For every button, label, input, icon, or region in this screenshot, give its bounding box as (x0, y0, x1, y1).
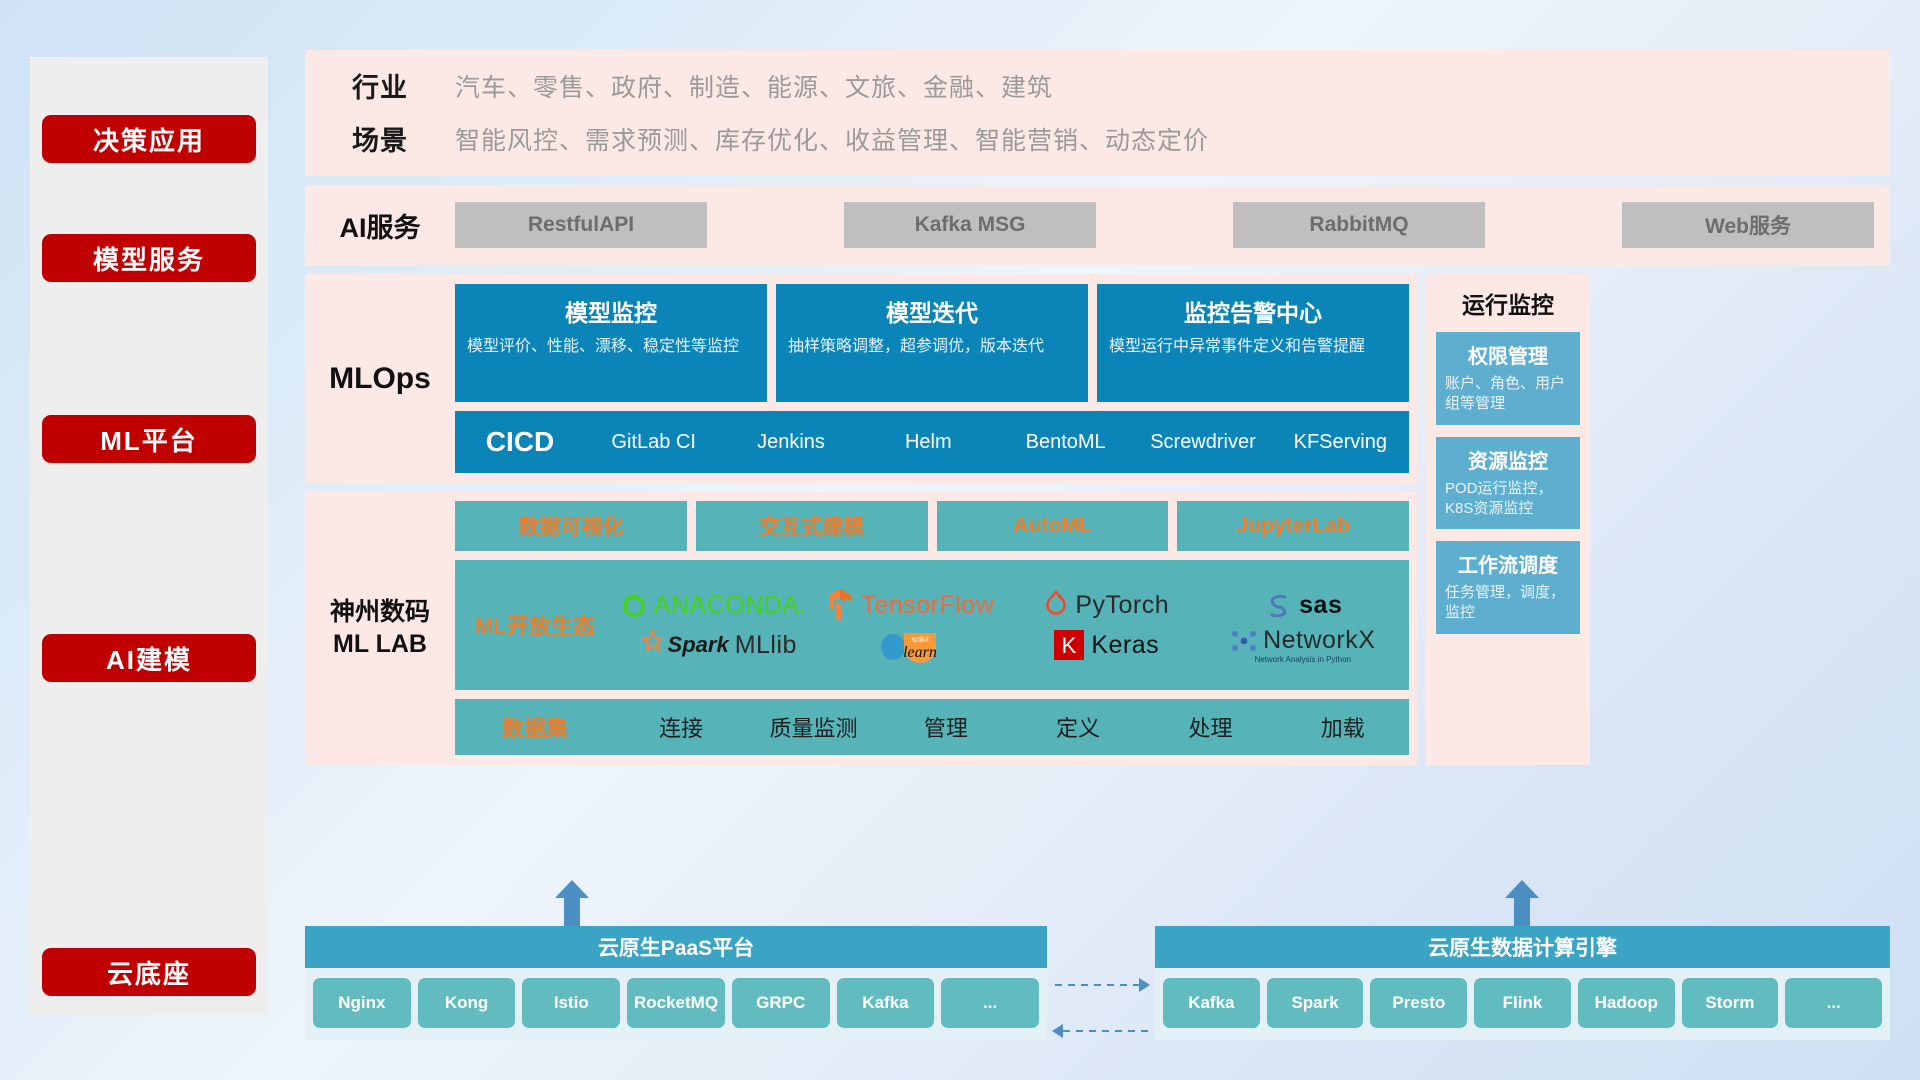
ml-lab-label-line1: 神州数码 (330, 596, 430, 629)
spark-label: Spark (668, 632, 729, 658)
paas-chip[interactable]: Kong (418, 978, 516, 1028)
dashed-arrow-left (1063, 1030, 1149, 1032)
mlops-card-list: 模型监控 模型评价、性能、漂移、稳定性等监控 模型迭代 抽样策略调整，超参调优，… (455, 284, 1409, 402)
paas-chip[interactable]: Nginx (313, 978, 411, 1028)
ml-lab-content: 数据可视化 交互式建模 AutoML JupyterLab ML开放生态 (455, 501, 1417, 755)
mlops-card-title: 模型迭代 (788, 294, 1076, 328)
dashed-arrow-left-head (1052, 1024, 1063, 1038)
mlops-card-title: 监控告警中心 (1109, 294, 1397, 328)
engine-chip[interactable]: Storm (1682, 978, 1779, 1028)
mlops-band: MLOps 模型监控 模型评价、性能、漂移、稳定性等监控 模型迭代 抽样策略调整… (305, 274, 1417, 483)
networkx-icon (1230, 628, 1258, 654)
scikit-learn-icon: scikit learn (880, 625, 940, 665)
industry-values: 汽车、零售、政府、制造、能源、文旅、金融、建筑 (455, 68, 1053, 104)
sas-logo[interactable]: sas (1263, 590, 1342, 620)
anaconda-icon (620, 591, 648, 619)
scikit-word: scikit (911, 635, 930, 644)
cicd-title: CICD (455, 426, 585, 458)
mlops-card-desc: 抽样策略调整，超参调优，版本迭代 (788, 336, 1076, 359)
spark-mllib-logo[interactable]: Spark MLlib (630, 630, 797, 660)
engine-chip[interactable]: ... (1785, 978, 1882, 1028)
ai-service-label: AI服务 (305, 206, 455, 245)
anaconda-label: ANACONDA. (654, 591, 807, 620)
ai-service-box-list: RestfulAPI Kafka MSG RabbitMQ Web服务 (455, 202, 1890, 248)
engine-chip[interactable]: Hadoop (1578, 978, 1675, 1028)
ml-ecosystem-logo-grid: ANACONDA. TensorFlow (615, 585, 1409, 665)
monitoring-card-desc: 任务管理，调度，监控 (1445, 583, 1571, 624)
ai-service-box[interactable]: RestfulAPI (455, 202, 707, 248)
monitoring-title: 运行监控 (1436, 286, 1580, 320)
cicd-item[interactable]: BentoML (997, 432, 1134, 453)
sas-icon (1263, 590, 1293, 620)
mlops-card[interactable]: 模型监控 模型评价、性能、漂移、稳定性等监控 (455, 284, 767, 402)
cicd-item-list: GitLab CI Jenkins Helm BentoML Screwdriv… (585, 432, 1409, 453)
pytorch-label: PyTorch (1075, 591, 1169, 620)
ml-lab-label-line2: ML LAB (333, 628, 427, 661)
engine-block: 云原生数据计算引擎 Kafka Spark Presto Flink Hadoo… (1155, 926, 1890, 1040)
platform-left-stack: MLOps 模型监控 模型评价、性能、漂移、稳定性等监控 模型迭代 抽样策略调整… (305, 274, 1417, 765)
ai-service-box[interactable]: Kafka MSG (844, 202, 1096, 248)
mlops-content: 模型监控 模型评价、性能、漂移、稳定性等监控 模型迭代 抽样策略调整，超参调优，… (455, 284, 1417, 473)
mlops-label: MLOps (305, 284, 455, 473)
cicd-item[interactable]: KFServing (1272, 432, 1409, 453)
paas-chip[interactable]: GRPC (732, 978, 830, 1028)
arrow-up-paas (555, 880, 589, 926)
anaconda-logo[interactable]: ANACONDA. (620, 591, 807, 620)
cicd-item[interactable]: Helm (860, 432, 997, 453)
monitoring-card[interactable]: 工作流调度 任务管理，调度，监控 (1436, 541, 1580, 634)
layer-label-column: 决策应用 模型服务 ML平台 AI建模 云底座 (30, 57, 268, 1015)
monitoring-card-title: 工作流调度 (1445, 549, 1571, 578)
engine-chip[interactable]: Spark (1267, 978, 1364, 1028)
ml-lab-tool[interactable]: AutoML (937, 501, 1169, 551)
keras-label: Keras (1091, 631, 1159, 660)
paas-chip[interactable]: RocketMQ (627, 978, 725, 1028)
monitoring-card-desc: 账户、角色、用户组等管理 (1445, 374, 1571, 415)
paas-chip[interactable]: Kafka (837, 978, 935, 1028)
networkx-tagline: Network Analysis in Python (1255, 655, 1352, 664)
networkx-logo[interactable]: NetworkX Network Analysis in Python (1230, 626, 1375, 664)
ml-lab-tool[interactable]: 数据可视化 (455, 501, 687, 551)
ml-lab-label: 神州数码 ML LAB (305, 501, 455, 755)
platform-region: MLOps 模型监控 模型评价、性能、漂移、稳定性等监控 模型迭代 抽样策略调整… (305, 274, 1890, 765)
layer-label-decision-app[interactable]: 决策应用 (42, 115, 256, 163)
mlops-card[interactable]: 模型迭代 抽样策略调整，超参调优，版本迭代 (776, 284, 1088, 402)
ai-service-band: AI服务 RestfulAPI Kafka MSG RabbitMQ Web服务 (305, 185, 1890, 265)
ml-lab-band: 神州数码 ML LAB 数据可视化 交互式建模 AutoML JupyterLa… (305, 492, 1417, 765)
monitoring-card[interactable]: 资源监控 POD运行监控，K8S资源监控 (1436, 437, 1580, 530)
architecture-diagram: 决策应用 模型服务 ML平台 AI建模 云底座 行业 汽车、零售、政府、制造、能… (0, 0, 1920, 1080)
engine-chip[interactable]: Flink (1474, 978, 1571, 1028)
cicd-bar: CICD GitLab CI Jenkins Helm BentoML Scre… (455, 411, 1409, 473)
mlops-card[interactable]: 监控告警中心 模型运行中异常事件定义和告警提醒 (1097, 284, 1409, 402)
decision-app-band: 行业 汽车、零售、政府、制造、能源、文旅、金融、建筑 场景 智能风控、需求预测、… (305, 50, 1890, 176)
mlops-card-desc: 模型运行中异常事件定义和告警提醒 (1109, 336, 1397, 359)
monitoring-card-desc: POD运行监控，K8S资源监控 (1445, 479, 1571, 520)
scenario-values: 智能风控、需求预测、库存优化、收益管理、智能营销、动态定价 (455, 121, 1209, 157)
mlops-card-title: 模型监控 (467, 294, 755, 328)
industry-label: 行业 (305, 66, 455, 105)
main-stack: 行业 汽车、零售、政府、制造、能源、文旅、金融、建筑 场景 智能风控、需求预测、… (305, 50, 1890, 765)
engine-chip[interactable]: Presto (1370, 978, 1467, 1028)
dataset-item[interactable]: 连接 (615, 711, 747, 743)
paas-block: 云原生PaaS平台 Nginx Kong Istio RocketMQ GRPC… (305, 926, 1047, 1040)
ml-ecosystem-label: ML开放生态 (455, 609, 615, 641)
dashed-arrow-right (1055, 984, 1141, 986)
spark-icon (630, 630, 662, 660)
dataset-item[interactable]: 管理 (880, 711, 1012, 743)
layer-label-ml-platform[interactable]: ML平台 (42, 415, 256, 463)
scenario-label: 场景 (305, 119, 455, 158)
engine-chip-list: Kafka Spark Presto Flink Hadoop Storm ..… (1155, 968, 1890, 1040)
dataset-item[interactable]: 定义 (1012, 711, 1144, 743)
engine-title: 云原生数据计算引擎 (1155, 926, 1890, 968)
dataset-bar: 数据集 连接 质量监测 管理 定义 处理 加载 (455, 699, 1409, 755)
pytorch-logo[interactable]: PyTorch (1043, 590, 1169, 620)
keras-logo[interactable]: K Keras (1053, 629, 1159, 661)
sas-label: sas (1299, 591, 1342, 620)
scenario-row: 场景 智能风控、需求预测、库存优化、收益管理、智能营销、动态定价 (305, 119, 1890, 158)
paas-chip-list: Nginx Kong Istio RocketMQ GRPC Kafka ... (305, 968, 1047, 1040)
layer-label-ai-modeling[interactable]: AI建模 (42, 634, 256, 682)
cicd-item[interactable]: GitLab CI (585, 432, 722, 453)
dataset-item[interactable]: 加载 (1277, 711, 1409, 743)
cicd-item[interactable]: Jenkins (722, 432, 859, 453)
ai-service-box[interactable]: RabbitMQ (1233, 202, 1485, 248)
ml-lab-tool[interactable]: 交互式建模 (696, 501, 928, 551)
networkx-label: NetworkX (1263, 626, 1375, 655)
cicd-item[interactable]: Screwdriver (1134, 432, 1271, 453)
arrow-up-engine (1505, 880, 1539, 926)
ml-lab-tool-list: 数据可视化 交互式建模 AutoML JupyterLab (455, 501, 1409, 551)
engine-chip[interactable]: Kafka (1163, 978, 1260, 1028)
tensorflow-label: TensorFlow (861, 591, 994, 620)
svg-text:learn: learn (903, 644, 937, 661)
layer-label-cloud-base[interactable]: 云底座 (42, 948, 256, 996)
layer-label-model-service[interactable]: 模型服务 (42, 234, 256, 282)
monitoring-panel: 运行监控 权限管理 账户、角色、用户组等管理 资源监控 POD运行监控，K8S资… (1426, 274, 1590, 765)
tensorflow-icon (825, 588, 855, 622)
monitoring-card[interactable]: 权限管理 账户、角色、用户组等管理 (1436, 332, 1580, 425)
mllib-label: MLlib (735, 631, 797, 660)
tensorflow-logo[interactable]: TensorFlow (825, 588, 994, 622)
dashed-arrow-right-head (1139, 978, 1150, 992)
monitoring-card-title: 权限管理 (1445, 340, 1571, 369)
pytorch-icon (1043, 590, 1069, 620)
keras-icon: K (1053, 629, 1085, 661)
ai-service-box[interactable]: Web服务 (1622, 202, 1874, 248)
mlops-card-desc: 模型评价、性能、漂移、稳定性等监控 (467, 336, 755, 359)
industry-row: 行业 汽车、零售、政府、制造、能源、文旅、金融、建筑 (305, 66, 1890, 105)
scikit-learn-logo[interactable]: scikit learn (880, 625, 940, 665)
dataset-item-list: 连接 质量监测 管理 定义 处理 加载 (615, 711, 1409, 743)
dataset-title: 数据集 (455, 711, 615, 743)
dataset-item[interactable]: 质量监测 (747, 711, 879, 743)
dataset-item[interactable]: 处理 (1144, 711, 1276, 743)
ml-ecosystem-bar: ML开放生态 ANACONDA. (455, 560, 1409, 690)
paas-chip[interactable]: ... (941, 978, 1039, 1028)
monitoring-card-title: 资源监控 (1445, 445, 1571, 474)
cloud-base-region: 云原生PaaS平台 Nginx Kong Istio RocketMQ GRPC… (305, 880, 1890, 1045)
ml-lab-tool[interactable]: JupyterLab (1177, 501, 1409, 551)
svg-text:K: K (1062, 633, 1077, 658)
paas-title: 云原生PaaS平台 (305, 926, 1047, 968)
paas-chip[interactable]: Istio (522, 978, 620, 1028)
